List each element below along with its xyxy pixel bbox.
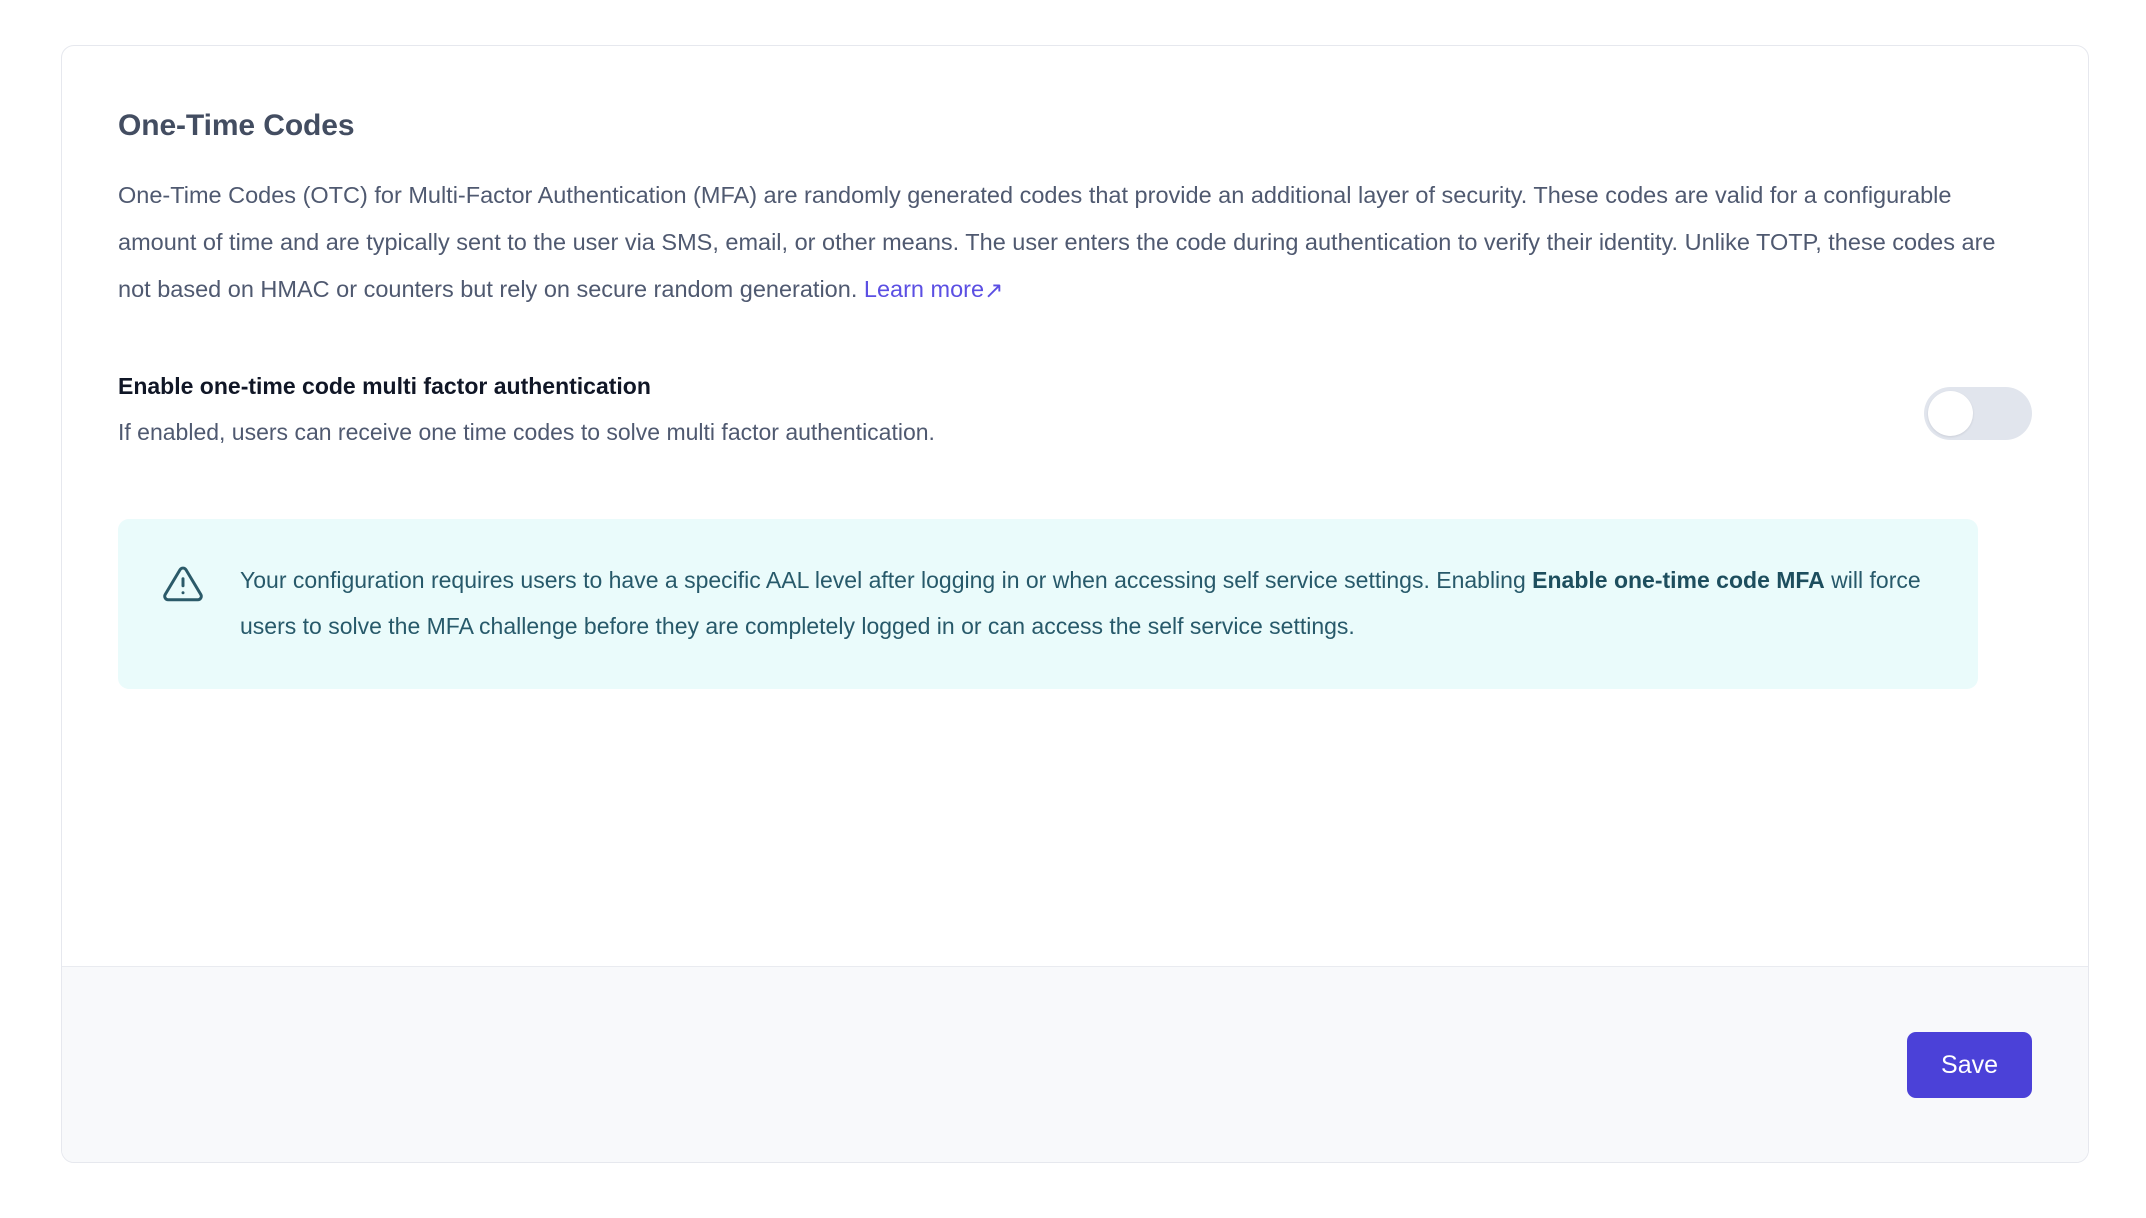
section-description-text: One-Time Codes (OTC) for Multi-Factor Au… bbox=[118, 182, 1996, 302]
external-link-arrow-icon: ↗ bbox=[984, 279, 1003, 302]
toggle-description: If enabled, users can receive one time c… bbox=[118, 417, 1884, 447]
alert-message-part1: Your configuration requires users to hav… bbox=[240, 567, 1532, 593]
learn-more-link[interactable]: Learn more↗ bbox=[864, 276, 1003, 302]
one-time-codes-card: One-Time Codes One-Time Codes (OTC) for … bbox=[61, 45, 2089, 1163]
enable-otc-mfa-toggle[interactable] bbox=[1924, 387, 2032, 440]
toggle-knob bbox=[1928, 391, 1973, 436]
learn-more-label: Learn more bbox=[864, 276, 984, 302]
toggle-label: Enable one-time code multi factor authen… bbox=[118, 371, 1884, 401]
section-description: One-Time Codes (OTC) for Multi-Factor Au… bbox=[118, 172, 1998, 313]
alert-message-bold: Enable one-time code MFA bbox=[1532, 567, 1825, 593]
card-body: One-Time Codes One-Time Codes (OTC) for … bbox=[62, 46, 2088, 966]
page-root: One-Time Codes One-Time Codes (OTC) for … bbox=[0, 0, 2146, 1218]
toggle-text-block: Enable one-time code multi factor authen… bbox=[118, 371, 1924, 447]
card-footer: Save bbox=[62, 966, 2088, 1162]
aal-warning-alert: Your configuration requires users to hav… bbox=[118, 519, 1978, 689]
save-button[interactable]: Save bbox=[1907, 1032, 2032, 1098]
page-title: One-Time Codes bbox=[118, 108, 2032, 144]
warning-triangle-icon bbox=[162, 563, 204, 605]
alert-message: Your configuration requires users to hav… bbox=[240, 557, 1934, 649]
toggle-row: Enable one-time code multi factor authen… bbox=[118, 371, 2032, 447]
